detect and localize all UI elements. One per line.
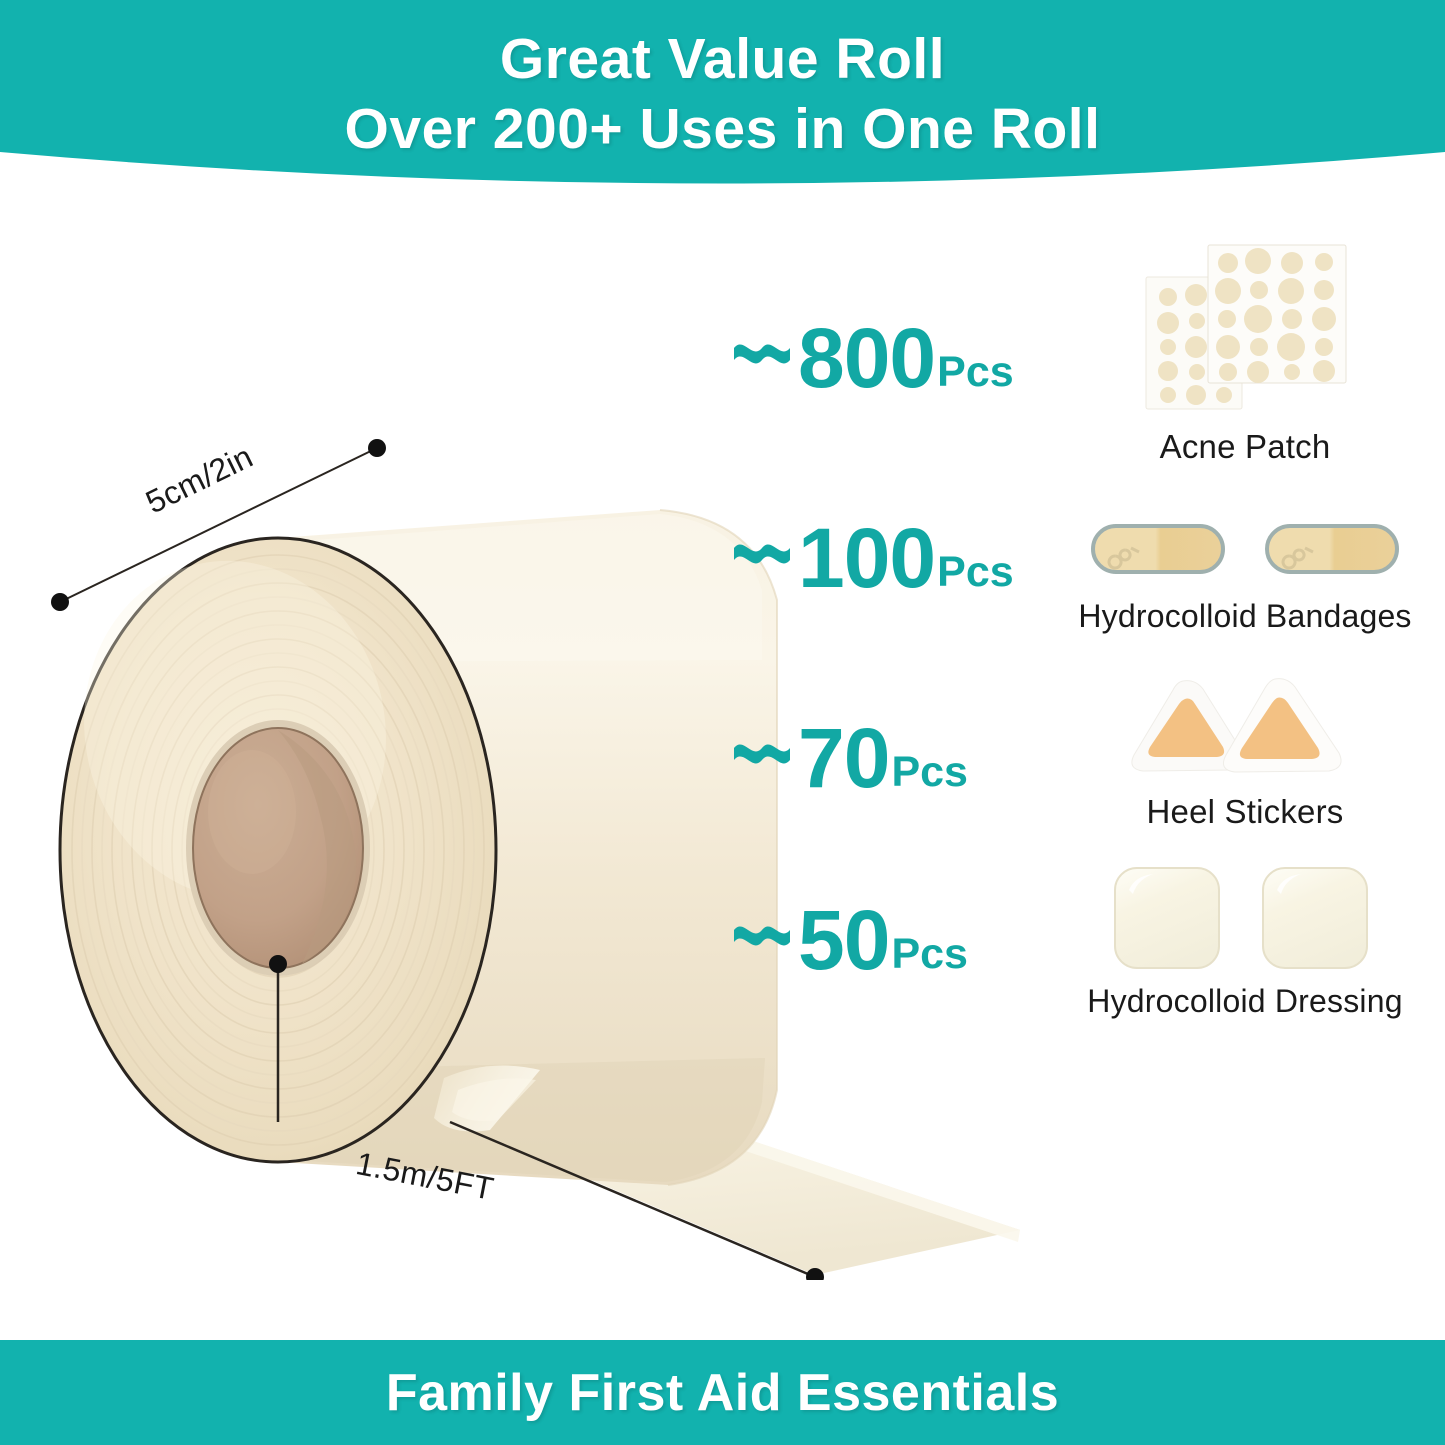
product-infographic: Great Value Roll Over 200+ Uses in One R… <box>0 0 1445 1445</box>
quantity-value: 100 <box>798 516 935 600</box>
quantity-unit: Pcs <box>937 351 1014 394</box>
product-item-hydrocolloid-dressing: Hydrocolloid Dressing <box>1045 860 1445 1025</box>
quantity-row-hydrocolloid-dressing: 50 Pcs <box>730 890 1060 990</box>
footer-tagline: Family First Aid Essentials <box>386 1363 1059 1423</box>
quantity-value: 50 <box>798 898 889 982</box>
product-item-acne-patch: Acne Patch <box>1045 235 1445 460</box>
product-label: Heel Stickers <box>1045 793 1445 831</box>
heel-sticker-triangle-icon <box>1125 675 1365 785</box>
product-label: Acne Patch <box>1045 428 1445 466</box>
product-item-heel-stickers: Heel Stickers <box>1045 675 1445 840</box>
quantity-unit: Pcs <box>937 551 1014 594</box>
hydrocolloid-dressing-icon <box>1095 860 1395 975</box>
acne-patch-art <box>1045 235 1445 420</box>
quantity-value: 70 <box>798 716 889 800</box>
quantity-column: 800 Pcs 100 Pcs 70 Pcs 50 Pcs <box>730 240 1060 1040</box>
header-banner: Great Value Roll Over 200+ Uses in One R… <box>0 0 1445 210</box>
approximately-icon <box>730 730 794 786</box>
quantity-unit: Pcs <box>891 933 968 976</box>
acne-patch-sheets-icon <box>1130 235 1360 420</box>
hydrocolloid-bandages-art <box>1045 505 1445 590</box>
approximately-icon <box>730 530 794 586</box>
quantity-row-acne-patch: 800 Pcs <box>730 308 1060 408</box>
heel-stickers-art <box>1045 675 1445 785</box>
product-label: Hydrocolloid Dressing <box>1045 983 1445 1020</box>
hydrocolloid-dressing-art <box>1045 860 1445 975</box>
footer-banner: Family First Aid Essentials <box>0 1340 1445 1445</box>
approximately-icon <box>730 912 794 968</box>
quantity-unit: Pcs <box>891 751 968 794</box>
quantity-value: 800 <box>798 316 935 400</box>
product-label: Hydrocolloid Bandages <box>1045 598 1445 635</box>
quantity-row-hydrocolloid-bandages: 100 Pcs <box>730 508 1060 608</box>
hydrocolloid-bandage-icon <box>1085 508 1405 588</box>
approximately-icon <box>730 330 794 386</box>
product-item-hydrocolloid-bandages: Hydrocolloid Bandages <box>1045 505 1445 650</box>
header-banner-shape <box>0 0 1445 210</box>
product-column: Acne Patch <box>1045 235 1445 1045</box>
quantity-row-heel-stickers: 70 Pcs <box>730 708 1060 808</box>
